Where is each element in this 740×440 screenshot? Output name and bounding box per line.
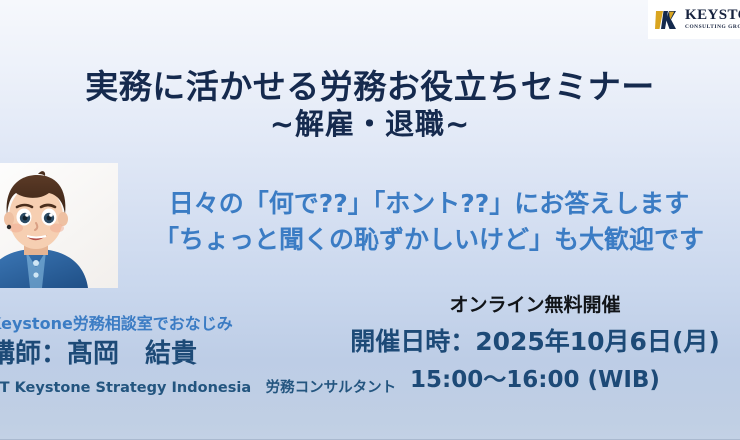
keystone-logo-wordmark: KEYSTONE CONSULTING GROUP [685, 8, 740, 30]
event-info: オンライン無料開催 開催日時：2025年10月6日(月) 15:00〜16:00… [300, 294, 740, 395]
event-date: 開催日時：2025年10月6日(月) [300, 326, 740, 357]
title-line-subtitle: ~解雇・退職~ [0, 107, 740, 141]
keystone-logo-tagline: CONSULTING GROUP [685, 25, 740, 30]
seminar-flyer-slide: KEYSTONE CONSULTING GROUP 実務に活かせる労務お役立ちセ… [0, 0, 740, 440]
keystone-logo-name: KEYSTONE [685, 8, 740, 23]
lead-line-2: 「ちょっと聞くの恥ずかしいけど」も大歓迎です [118, 222, 740, 258]
speaker-avatar [0, 163, 118, 288]
keystone-logo: KEYSTONE CONSULTING GROUP [648, 0, 740, 39]
avatar-illustration-icon [0, 163, 118, 288]
lead-copy: 日々の「何で??」「ホント??」にお答えします 「ちょっと聞くの恥ずかしいけど」… [118, 186, 740, 257]
page-title: 実務に活かせる労務お役立ちセミナー ~解雇・退職~ [0, 68, 740, 141]
keystone-logo-mark-icon [654, 7, 680, 33]
lead-line-1: 日々の「何で??」「ホント??」にお答えします [118, 186, 740, 222]
event-mode: オンライン無料開催 [300, 294, 740, 317]
title-line-main: 実務に活かせる労務お役立ちセミナー [0, 68, 740, 107]
event-time: 15:00〜16:00 (WIB) [300, 366, 740, 395]
